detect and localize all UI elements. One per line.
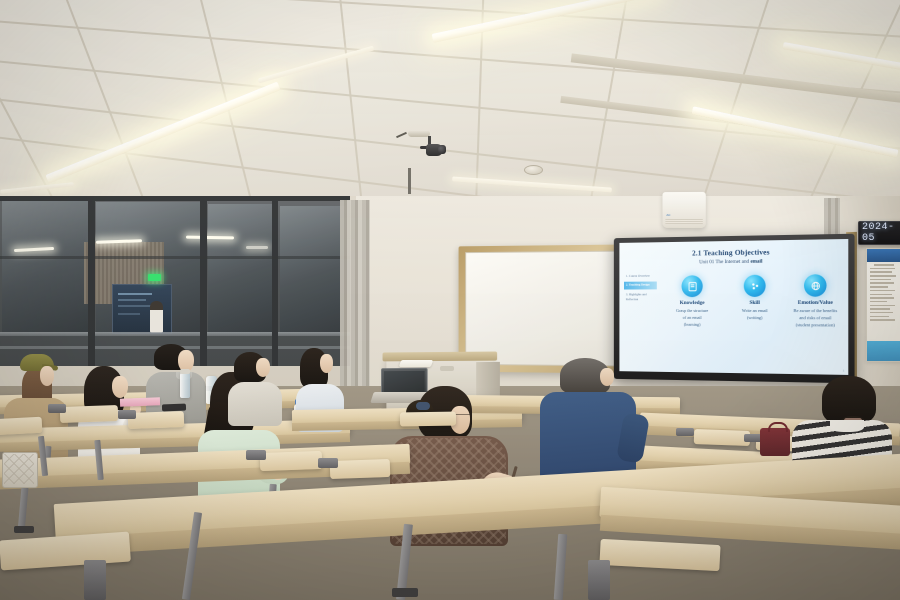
interior-window-wall (0, 196, 350, 366)
seat-support (246, 450, 266, 460)
seat-support (318, 458, 338, 468)
slide-title: 2.1 Teaching Objectives (619, 246, 848, 258)
seat-back[interactable] (400, 412, 456, 427)
slide-nav-item-1[interactable]: 1. Course Overview (624, 272, 657, 280)
poster-header (867, 249, 900, 262)
slide-page-number: 5 (843, 370, 844, 373)
seat-back[interactable] (60, 405, 119, 423)
window-curtain (340, 200, 370, 390)
phone (162, 404, 186, 412)
collar (830, 420, 864, 432)
globe-icon (804, 274, 827, 297)
slide-column-line: (student presentation) (786, 322, 845, 329)
face (600, 368, 614, 386)
thermos-cup (180, 372, 190, 398)
slide-sidebar-nav: 1. Course Overview 2. Teaching Design 3.… (624, 272, 657, 306)
slide-column-title: Emotion/Value (786, 300, 845, 306)
camera-pole (408, 168, 411, 194)
camera-lens-icon (438, 145, 446, 154)
face (40, 366, 54, 386)
face (256, 358, 270, 377)
camera-mount (408, 130, 430, 137)
book-icon (682, 275, 703, 297)
corridor-person (150, 301, 163, 333)
smoke-detector-icon (524, 165, 543, 175)
podium-papers (399, 360, 434, 367)
seat-back[interactable] (128, 411, 185, 429)
podium-remote (440, 366, 454, 371)
presentation-screen[interactable]: 2.1 Teaching Objectives Unit 01 The Inte… (614, 234, 855, 384)
poster-body-text (867, 262, 900, 325)
face (320, 354, 333, 373)
slide-column-line: (learning) (661, 321, 725, 328)
seat-back[interactable] (330, 459, 391, 479)
desk-leg-foot (392, 588, 418, 597)
slide-column-title: Skill (724, 300, 786, 306)
slide-column-emotion-value: Emotion/Value Be aware of the benefits a… (786, 274, 845, 329)
slide-column-skill: Skill Write an email (writing) (724, 275, 786, 322)
ceiling-light (0, 182, 74, 194)
seat-back[interactable] (0, 417, 42, 436)
bag-handle (768, 422, 788, 432)
clock-text: 2024-05 (859, 222, 900, 244)
slide-column-line: (writing) (724, 315, 786, 322)
slide-subtitle: Unit 01 The Internet and email (619, 258, 848, 267)
ceiling-light (258, 46, 375, 84)
seat-support (588, 560, 610, 600)
poster-footer (867, 341, 900, 361)
seat-support (48, 404, 66, 413)
bag-pattern (4, 454, 34, 484)
seat-back[interactable] (260, 451, 323, 471)
face (112, 376, 128, 398)
cup-lid (180, 369, 190, 374)
ceiling-light (783, 42, 900, 75)
seat-support (118, 410, 136, 419)
slide-nav-item-2[interactable]: 2. Teaching Design (624, 281, 657, 289)
classroom-photo: AC 2.1 Teaching Objectives Unit 01 The I… (0, 0, 900, 600)
seat-support (84, 560, 106, 600)
seat-back[interactable] (694, 429, 750, 446)
slide-column-title: Knowledge (661, 300, 725, 306)
slide-column-line: Be aware of the benefits (786, 308, 845, 315)
podium-top (383, 351, 498, 361)
exit-sign-icon (148, 274, 161, 281)
hair-clip (416, 402, 430, 410)
air-conditioner: AC (662, 192, 705, 228)
ac-brand-label: AC (666, 213, 670, 217)
nodes-icon (744, 275, 766, 297)
slide-subtitle-bold: email (750, 259, 762, 265)
wall-poster (866, 248, 900, 362)
torso (228, 382, 282, 426)
slide-column-knowledge: Knowledge Grasp the structure of an emai… (661, 275, 725, 328)
camera-cable (396, 132, 407, 138)
slide-subtitle-prefix: Unit 01 The Internet and (699, 259, 750, 266)
seat-support (676, 428, 694, 436)
corridor-noticeboard (112, 284, 172, 334)
led-wall-clock: 2024-05 (858, 221, 900, 245)
handbag (760, 428, 790, 456)
slide-nav-item-3[interactable]: 3. Highlights and Reflection (624, 291, 657, 303)
slide: 2.1 Teaching Objectives Unit 01 The Inte… (619, 239, 848, 375)
desk-leg-foot (14, 526, 34, 533)
notebook-paper (120, 397, 160, 406)
